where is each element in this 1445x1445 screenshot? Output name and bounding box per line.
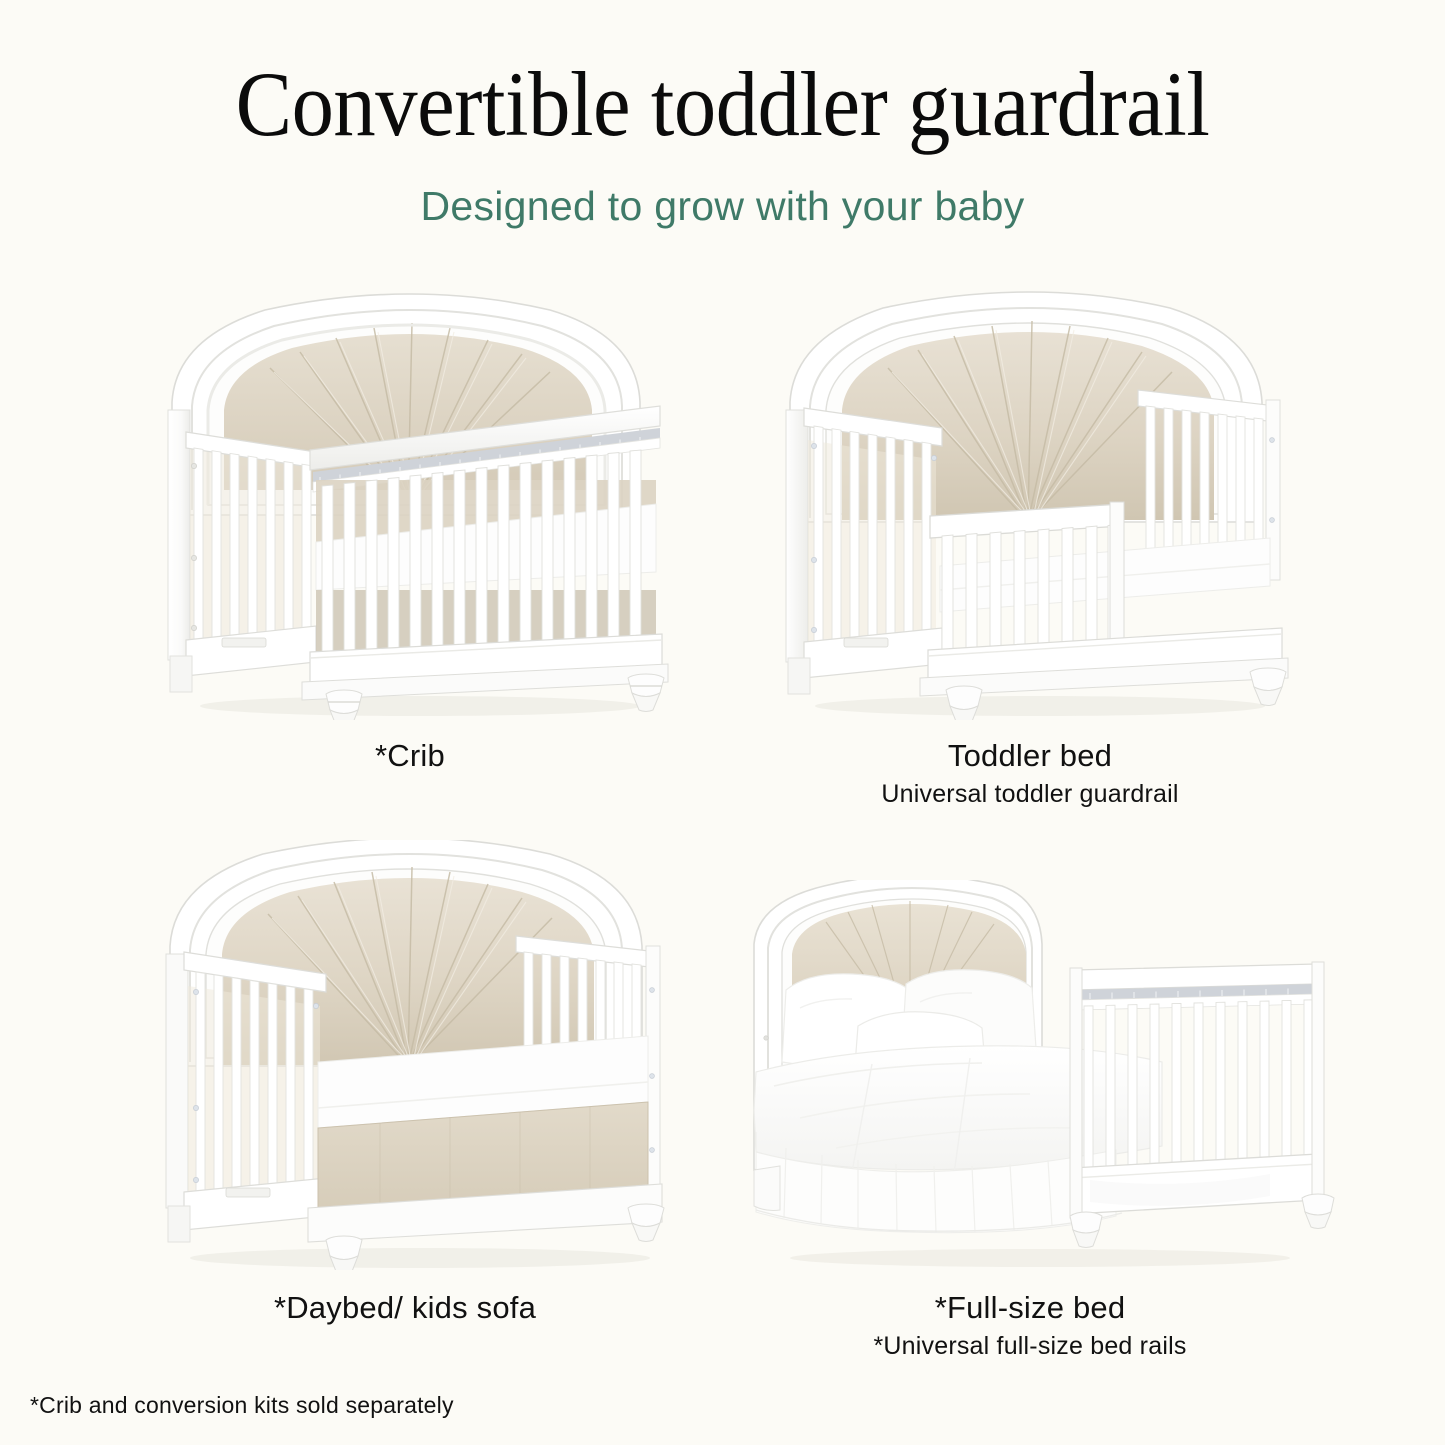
caption-full-size-bed: *Full-size bed *Universal full-size bed … (700, 1290, 1360, 1360)
full-size-bed-headboard-leg (754, 1166, 780, 1211)
toddler-bed-back-post (786, 410, 808, 662)
caption-crib: *Crib (80, 738, 740, 774)
toddler-bed-ground-shadow (815, 696, 1265, 716)
daybed-screw (313, 1003, 318, 1008)
full-size-bed-illustration (740, 880, 1340, 1270)
full-size-bed-foot-right (1302, 1194, 1334, 1229)
toddler-guardrail-end-post (1110, 502, 1124, 652)
full-size-bed-footboard-post-left (1070, 968, 1082, 1218)
full-size-bed-ground-shadow (790, 1249, 1290, 1267)
caption-full-size-bed-label: *Full-size bed (700, 1290, 1360, 1326)
caption-daybed-label: *Daybed/ kids sofa (75, 1290, 735, 1326)
page-subtitle: Designed to grow with your baby (0, 183, 1445, 230)
footnote: *Crib and conversion kits sold separatel… (30, 1392, 454, 1419)
crib-brand-plate (222, 638, 266, 647)
product-cell-full-size-bed (740, 880, 1340, 1270)
toddler-bed-foot-front-right (1250, 668, 1286, 706)
caption-toddler-bed: Toddler bed Universal toddler guardrail (700, 738, 1360, 808)
full-size-bed-screw (764, 1036, 768, 1040)
toddler-bed-illustration (770, 290, 1315, 720)
product-cell-crib (150, 290, 690, 720)
full-size-bed-footboard (1070, 962, 1334, 1248)
toddler-bed-screw (931, 455, 936, 460)
daybed-rear-leg (168, 1206, 190, 1242)
daybed-brand-plate (226, 1188, 270, 1197)
product-cell-toddler-bed (770, 290, 1315, 720)
toddler-bed-mattress (940, 538, 1270, 612)
toddler-bed-rear-leg (788, 658, 810, 694)
caption-daybed: *Daybed/ kids sofa (75, 1290, 735, 1326)
crib-screw (191, 463, 196, 468)
daybed-screw (193, 1105, 198, 1110)
toddler-bed-screw (811, 443, 816, 448)
daybed-ground-shadow (190, 1248, 650, 1268)
crib-ground-shadow (200, 696, 640, 716)
caption-crib-label: *Crib (80, 738, 740, 774)
daybed-screw (193, 1177, 198, 1182)
toddler-bed-screw (811, 627, 816, 632)
crib-front-slats (322, 450, 641, 663)
page-title: Convertible toddler guardrail (58, 58, 1387, 150)
toddler-bed-screw (811, 557, 816, 562)
crib-illustration (150, 290, 690, 720)
daybed-back-post (166, 954, 188, 1208)
daybed-foot-front-right (628, 1204, 664, 1242)
daybed-screw (193, 989, 198, 994)
toddler-bed-brand-plate (844, 638, 888, 647)
caption-toddler-bed-label: Toddler bed (700, 738, 1360, 774)
crib-screw (191, 625, 196, 630)
crib-rear-leg (170, 656, 192, 692)
daybed-illustration (150, 840, 695, 1270)
infographic-page: Convertible toddler guardrail Designed t… (0, 0, 1445, 1445)
caption-full-size-bed-sublabel: *Universal full-size bed rails (700, 1332, 1360, 1361)
full-size-bed-foot-left (1070, 1212, 1102, 1248)
crib-screw (191, 555, 196, 560)
product-cell-daybed (150, 840, 695, 1270)
caption-toddler-bed-sublabel: Universal toddler guardrail (700, 780, 1360, 809)
full-size-bed-footboard-post-right (1312, 962, 1324, 1198)
